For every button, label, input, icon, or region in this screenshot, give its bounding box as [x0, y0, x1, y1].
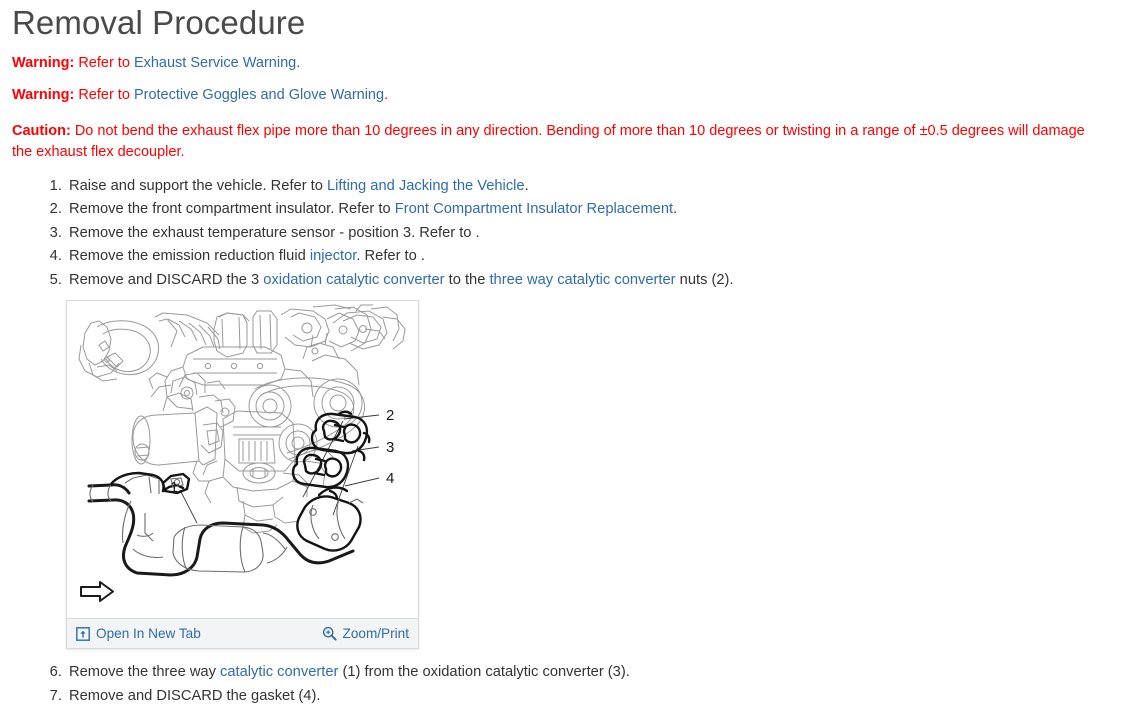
step-link[interactable]: three way catalytic converter: [489, 272, 675, 288]
step-link[interactable]: catalytic converter: [220, 664, 338, 680]
step-link[interactable]: injector: [310, 248, 357, 264]
open-in-new-tab-icon: [76, 627, 90, 641]
open-in-new-tab-label: Open In New Tab: [96, 626, 201, 641]
callout-label-2: 2: [386, 407, 394, 424]
caution-block: Caution: Do not bend the exhaust flex pi…: [12, 121, 1104, 163]
procedure-step: Remove and DISCARD the 3 oxidation catal…: [66, 269, 1121, 291]
callout-label-1: 1: [170, 479, 178, 496]
step-link[interactable]: oxidation catalytic converter: [263, 272, 444, 288]
warning-1-link[interactable]: Exhaust Service Warning: [134, 55, 296, 71]
open-in-new-tab-button[interactable]: Open In New Tab: [76, 626, 201, 641]
callout-label-4: 4: [386, 470, 394, 487]
step-link[interactable]: Front Compartment Insulator Replacement: [395, 201, 673, 217]
step-text: nuts (2).: [676, 272, 734, 288]
procedure-steps-bottom: Remove the three way catalytic converter…: [10, 661, 1121, 707]
step-text: (1) from the oxidation catalytic convert…: [338, 664, 629, 680]
exhaust-system-diagram: 1 2 3 4: [67, 301, 418, 618]
zoom-print-label: Zoom/Print: [343, 626, 409, 641]
document-page: Removal Procedure Warning: Refer to Exha…: [0, 0, 1131, 708]
figure-container: 1 2 3 4: [10, 300, 1121, 649]
warning-2-link[interactable]: Protective Goggles and Glove Warning: [134, 87, 384, 103]
page-title: Removal Procedure: [10, 0, 1121, 42]
step-text: Remove the emission reduction fluid: [69, 248, 310, 264]
procedure-step: Remove the three way catalytic converter…: [66, 661, 1121, 683]
step-text: .: [525, 178, 529, 194]
figure-toolbar: Open In New Tab Zoom/Print: [67, 618, 418, 648]
procedure-step: Remove the exhaust temperature sensor - …: [66, 222, 1121, 244]
step-text: Remove the three way: [69, 664, 220, 680]
figure-panel: 1 2 3 4: [66, 300, 419, 649]
procedure-step: Remove and DISCARD the gasket (4).: [66, 685, 1121, 707]
step-text: Remove the front compartment insulator. …: [69, 201, 395, 217]
callout-label-3: 3: [386, 439, 394, 456]
caution-text: Do not bend the exhaust flex pipe more t…: [12, 123, 1085, 160]
warning-1-text-after: .: [296, 55, 300, 71]
figure-image[interactable]: 1 2 3 4: [67, 301, 418, 618]
step-text: Raise and support the vehicle. Refer to: [69, 178, 327, 194]
warning-1: Warning: Refer to Exhaust Service Warnin…: [12, 53, 1121, 74]
step-link[interactable]: Lifting and Jacking the Vehicle: [327, 178, 525, 194]
warning-1-label: Warning:: [12, 55, 74, 71]
step-text: to the: [445, 272, 490, 288]
warning-2-label: Warning:: [12, 87, 74, 103]
warning-1-text-before: Refer to: [74, 55, 134, 71]
procedure-step: Raise and support the vehicle. Refer to …: [66, 175, 1121, 197]
step-text: .: [673, 201, 677, 217]
warning-2-text-before: Refer to: [74, 87, 134, 103]
zoom-print-button[interactable]: Zoom/Print: [322, 626, 409, 641]
zoom-print-icon: [322, 626, 337, 641]
step-text: Remove the exhaust temperature sensor - …: [69, 225, 480, 241]
warning-2-text-after: .: [384, 87, 388, 103]
procedure-steps-top: Raise and support the vehicle. Refer to …: [10, 175, 1121, 291]
step-text: Remove and DISCARD the gasket (4).: [69, 688, 320, 704]
procedure-step: Remove the emission reduction fluid inje…: [66, 245, 1121, 267]
warning-2: Warning: Refer to Protective Goggles and…: [12, 85, 1121, 106]
step-text: Remove and DISCARD the 3: [69, 272, 263, 288]
step-text: . Refer to .: [356, 248, 425, 264]
procedure-step: Remove the front compartment insulator. …: [66, 198, 1121, 220]
caution-label: Caution:: [12, 123, 71, 139]
